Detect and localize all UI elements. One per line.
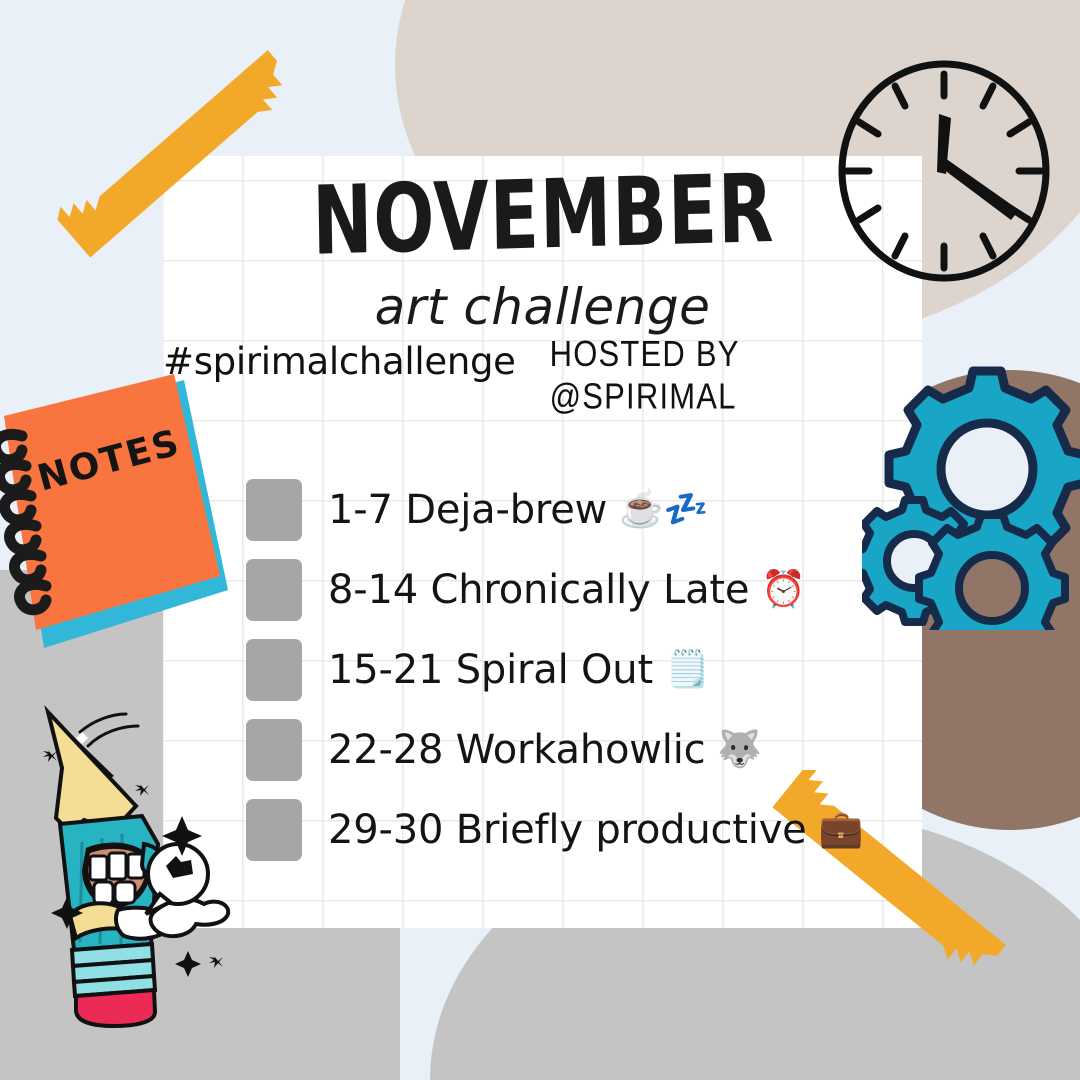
task-row[interactable]: 29-30 Briefly productive💼 [246,790,926,870]
task-label: 22-28 Workahowlic🐺 [328,727,762,773]
coffee-and-sleep-emoji: ☕️💤 [619,492,708,528]
task-checkbox[interactable] [246,559,302,621]
task-text: 1-7 Deja-brew [328,487,607,533]
meta-row: #spirimalchallenge HOSTED BY @SPIRIMAL [163,340,922,418]
task-text: 8-14 Chronically Late [328,567,749,613]
task-checkbox[interactable] [246,799,302,861]
task-text: 22-28 Workahowlic [328,727,705,773]
wall-clock [833,58,1055,289]
challenge-hashtag: #spirimalchallenge [163,340,516,383]
wolf-emoji: 🐺 [717,732,762,768]
alarm-clock-emoji: ⏰ [761,572,806,608]
spiral-notepad-emoji: 🗒️ [665,652,710,688]
task-label: 29-30 Briefly productive💼 [328,807,863,853]
task-row[interactable]: 22-28 Workahowlic🐺 [246,710,926,790]
poster-canvas: NOTES [0,0,1080,1080]
task-text: 29-30 Briefly productive [328,807,807,853]
challenge-checklist: 1-7 Deja-brew☕️💤8-14 Chronically Late⏰15… [246,470,926,870]
task-checkbox[interactable] [246,719,302,781]
pencil-mascot [18,698,268,1033]
task-text: 15-21 Spiral Out [328,647,653,693]
task-checkbox[interactable] [246,639,302,701]
briefcase-emoji: 💼 [819,812,864,848]
washi-tape-top-left [50,48,350,308]
task-label: 1-7 Deja-brew☕️💤 [328,487,708,533]
task-row[interactable]: 15-21 Spiral Out🗒️ [246,630,926,710]
hosted-by-label: HOSTED BY @SPIRIMAL [550,333,922,418]
task-row[interactable]: 8-14 Chronically Late⏰ [246,550,926,630]
task-label: 15-21 Spiral Out🗒️ [328,647,710,693]
task-row[interactable]: 1-7 Deja-brew☕️💤 [246,470,926,550]
task-label: 8-14 Chronically Late⏰ [328,567,806,613]
task-checkbox[interactable] [246,479,302,541]
